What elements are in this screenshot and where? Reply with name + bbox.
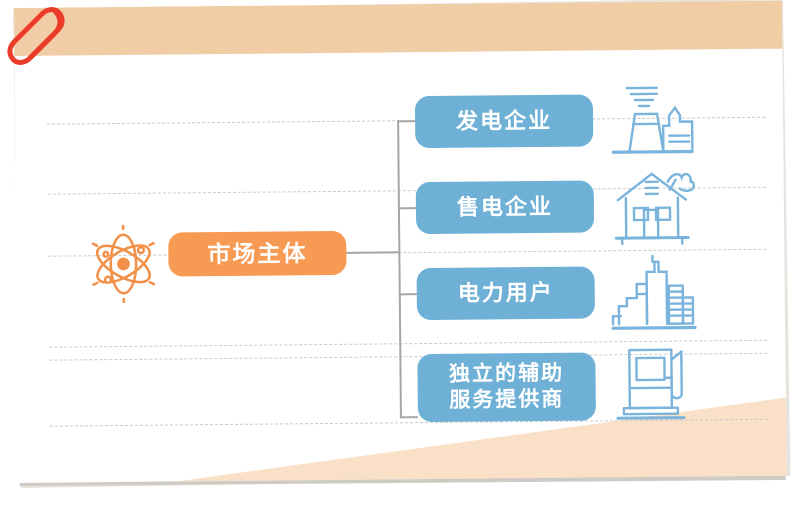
node-root-label: 市场主体 bbox=[207, 239, 307, 268]
node-leaf-power-consumer[interactable]: 电力用户 bbox=[417, 266, 595, 320]
node-leaf-power-generation[interactable]: 发电企业 bbox=[415, 94, 593, 148]
paperclip-icon bbox=[4, 2, 76, 74]
factory-icon bbox=[606, 249, 699, 336]
connector-branch-3 bbox=[399, 293, 417, 295]
connector-branch-4 bbox=[400, 416, 418, 418]
connector-branch-2 bbox=[398, 207, 416, 209]
connector-trunk bbox=[397, 120, 401, 417]
paper-card: 市场主体 发电企业 售电企业 bbox=[14, 1, 787, 483]
top-banner-strip bbox=[14, 1, 782, 56]
diagram-canvas: 市场主体 发电企业 售电企业 bbox=[0, 0, 800, 511]
power-plant-icon bbox=[605, 71, 698, 158]
node-leaf-ancillary-service-provider[interactable]: 独立的辅助 服务提供商 bbox=[417, 352, 596, 422]
node-leaf-4-label-line1: 独立的辅助 bbox=[449, 361, 564, 388]
house-icon bbox=[605, 159, 698, 246]
node-leaf-3-label: 电力用户 bbox=[458, 279, 554, 307]
node-leaf-1-label: 发电企业 bbox=[456, 107, 552, 135]
node-leaf-4-label-line2: 服务提供商 bbox=[449, 387, 564, 414]
node-leaf-electricity-retail[interactable]: 售电企业 bbox=[416, 180, 594, 234]
node-root[interactable]: 市场主体 bbox=[168, 231, 346, 277]
fuel-pump-icon bbox=[609, 337, 702, 424]
connector-branch-1 bbox=[397, 120, 415, 122]
atom-icon bbox=[84, 225, 163, 304]
node-leaf-2-label: 售电企业 bbox=[457, 193, 553, 221]
